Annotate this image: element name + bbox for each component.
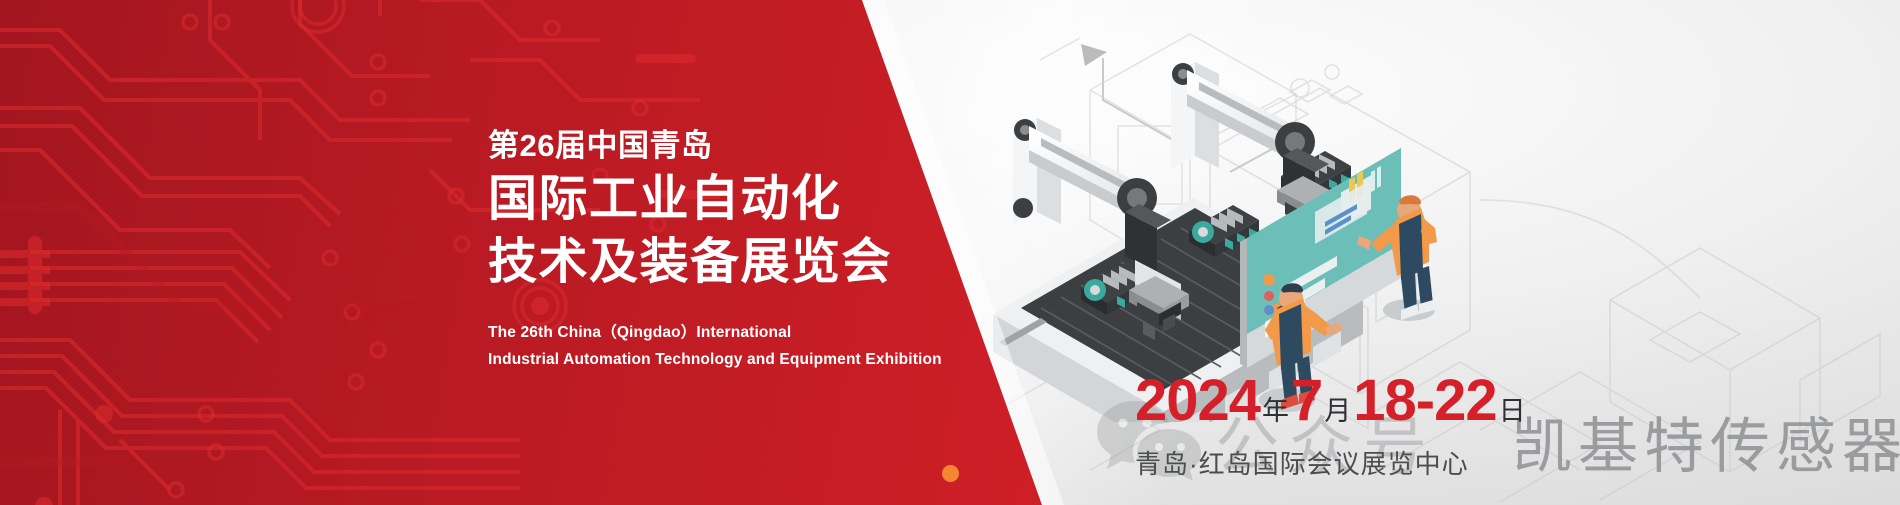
event-day-range: 18-22 (1353, 368, 1496, 433)
exhibition-banner: 第26届中国青岛 国际工业自动化 技术及装备展览会 The 26th China… (0, 0, 1900, 505)
factory-automation-illustration (985, 22, 1545, 422)
event-month-unit: 月 (1322, 396, 1353, 426)
event-date: 2024年7月18-22日 (1135, 372, 1528, 430)
event-venue: 青岛·红岛国际会议展览中心 (1135, 444, 1528, 481)
watermark-brand: 凯基特传感器 (1512, 398, 1900, 485)
title-block: 第26届中国青岛 国际工业自动化 技术及装备展览会 The 26th China… (488, 128, 958, 373)
title-kicker: 第26届中国青岛 (488, 128, 958, 164)
title-main-line2: 技术及装备展览会 (488, 233, 958, 293)
event-year: 2024 (1135, 368, 1260, 433)
title-english: The 26th China（Qingdao）International Ind… (488, 319, 958, 373)
event-info-block: 2024年7月18-22日 青岛·红岛国际会议展览中心 (1135, 372, 1528, 481)
title-main-line1: 国际工业自动化 (488, 170, 958, 230)
event-day-unit: 日 (1497, 396, 1528, 426)
event-year-unit: 年 (1260, 396, 1291, 426)
orange-dot-accent (942, 465, 959, 482)
title-english-line2: Industrial Automation Technology and Equ… (488, 346, 958, 373)
event-month: 7 (1291, 368, 1322, 433)
title-english-line1: The 26th China（Qingdao）International (488, 319, 958, 346)
